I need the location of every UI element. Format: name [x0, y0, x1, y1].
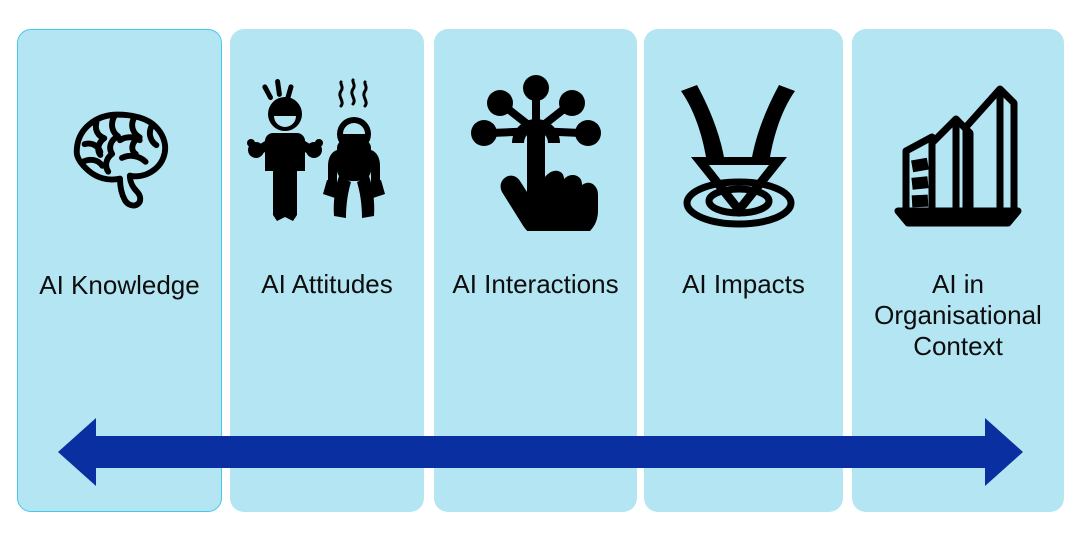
card-ai-knowledge[interactable]: AI Knowledge: [17, 29, 222, 512]
card-ai-in-organisational-context[interactable]: AI in Organisational Context: [852, 29, 1064, 512]
card-label: AI Knowledge: [22, 270, 217, 400]
office-buildings-icon: [852, 51, 1064, 251]
card-label: AI Impacts: [648, 269, 839, 399]
card-label: AI in Organisational Context: [856, 269, 1060, 399]
card-label: AI Attitudes: [234, 269, 420, 399]
card-ai-attitudes[interactable]: AI Attitudes: [230, 29, 424, 512]
card-ai-impacts[interactable]: AI Impacts: [644, 29, 843, 512]
arrow-impact-ripple-icon: [644, 51, 843, 251]
two-people-emotions-icon: [230, 51, 424, 251]
card-label: AI Interactions: [438, 269, 633, 399]
card-ai-interactions[interactable]: AI Interactions: [434, 29, 637, 512]
hand-touch-network-icon: [434, 51, 637, 251]
brain-icon: [18, 52, 221, 252]
ai-competency-diagram: AI Knowledge: [0, 0, 1081, 546]
